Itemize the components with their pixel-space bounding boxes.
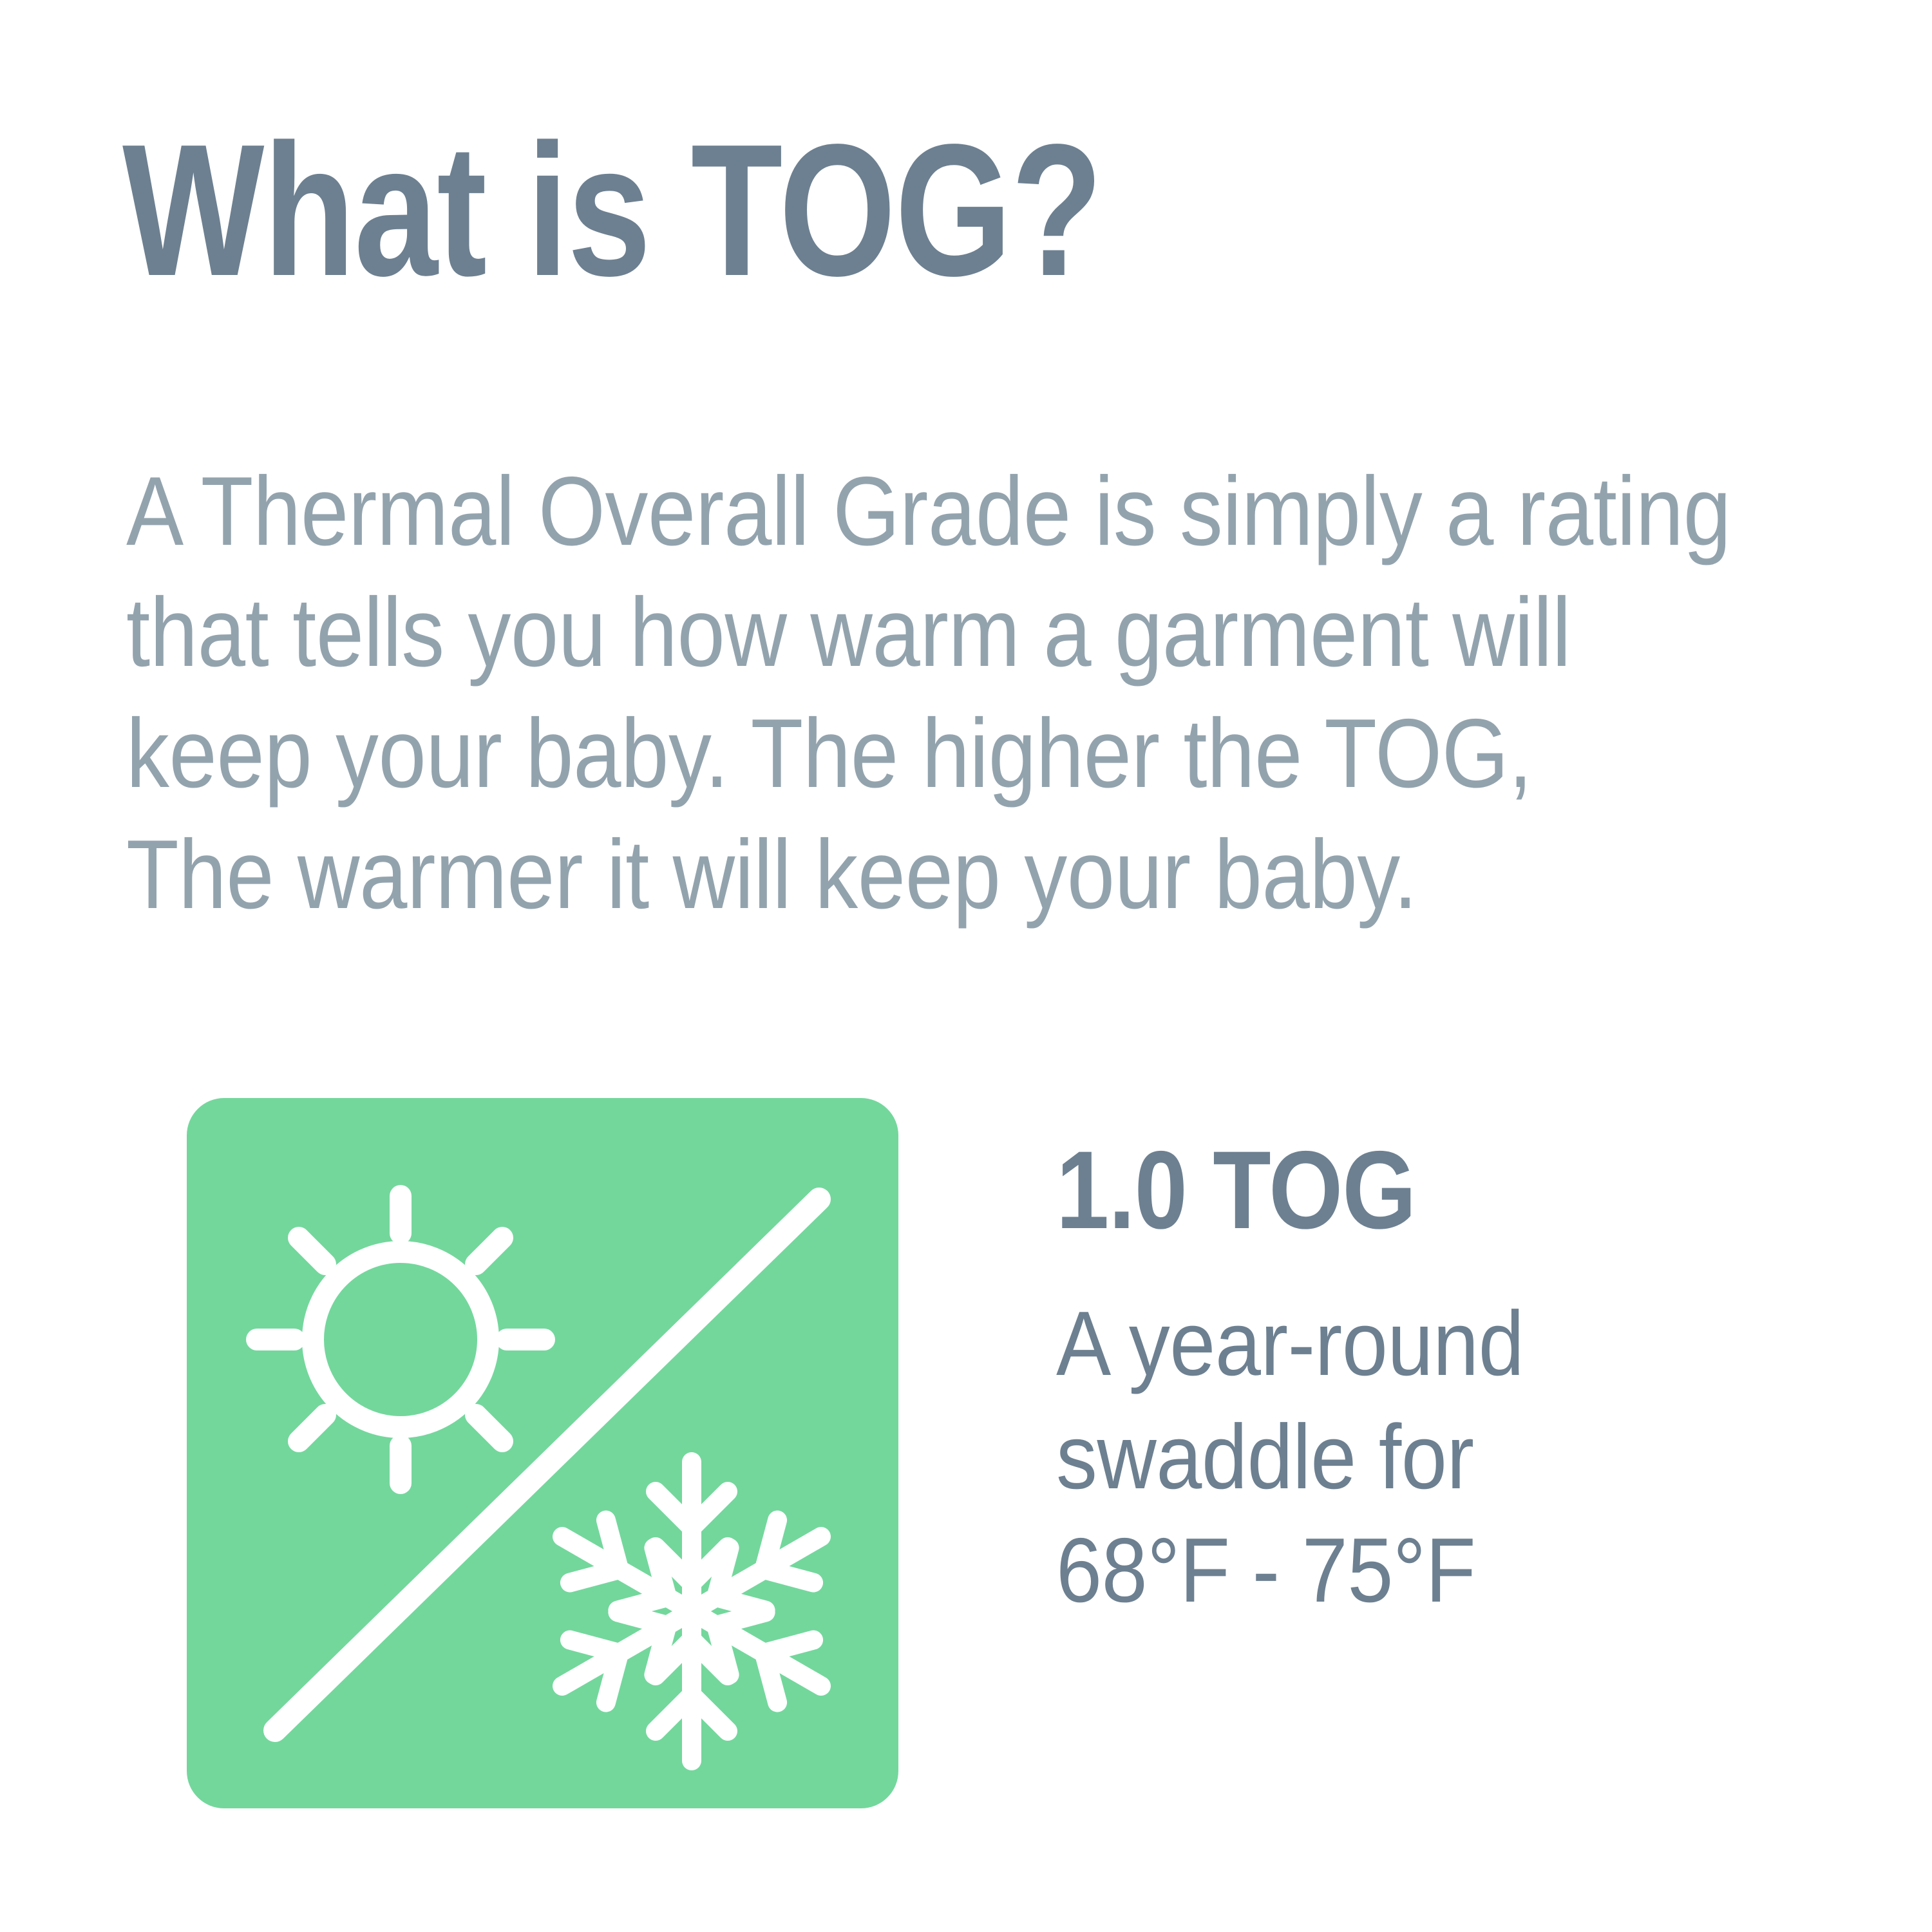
tog-icon-tile xyxy=(187,1098,898,1808)
tog-info-block: 1.0 TOG A year-round swaddle for 68°F - … xyxy=(1056,1130,1829,1627)
page-title: What is TOG? xyxy=(122,116,1102,304)
snowflake-icon xyxy=(562,1462,821,1761)
tog-rating-value: 1.0 TOG xyxy=(1056,1130,1721,1250)
tog-description-line-1: A year-round xyxy=(1056,1287,1752,1401)
intro-line-1: A Thermal Overall Grade is simply a rati… xyxy=(126,451,1731,572)
intro-line-3: keep your baby. The higher the TOG, xyxy=(126,693,1731,814)
diagonal-divider-icon xyxy=(275,1199,819,1730)
tog-description: A year-round swaddle for 68°F - 75°F xyxy=(1056,1287,1752,1627)
sun-snowflake-illustration xyxy=(187,1098,898,1808)
sun-icon xyxy=(257,1196,544,1483)
infographic-page: What is TOG? A Thermal Overall Grade is … xyxy=(0,0,1932,1932)
intro-line-4: The warmer it will keep your baby. xyxy=(126,814,1731,935)
tog-description-line-3: 68°F - 75°F xyxy=(1056,1514,1752,1627)
intro-line-2: that tells you how warm a garment will xyxy=(126,572,1731,693)
tog-description-line-2: swaddle for xyxy=(1056,1401,1752,1514)
intro-paragraph: A Thermal Overall Grade is simply a rati… xyxy=(126,451,1731,935)
